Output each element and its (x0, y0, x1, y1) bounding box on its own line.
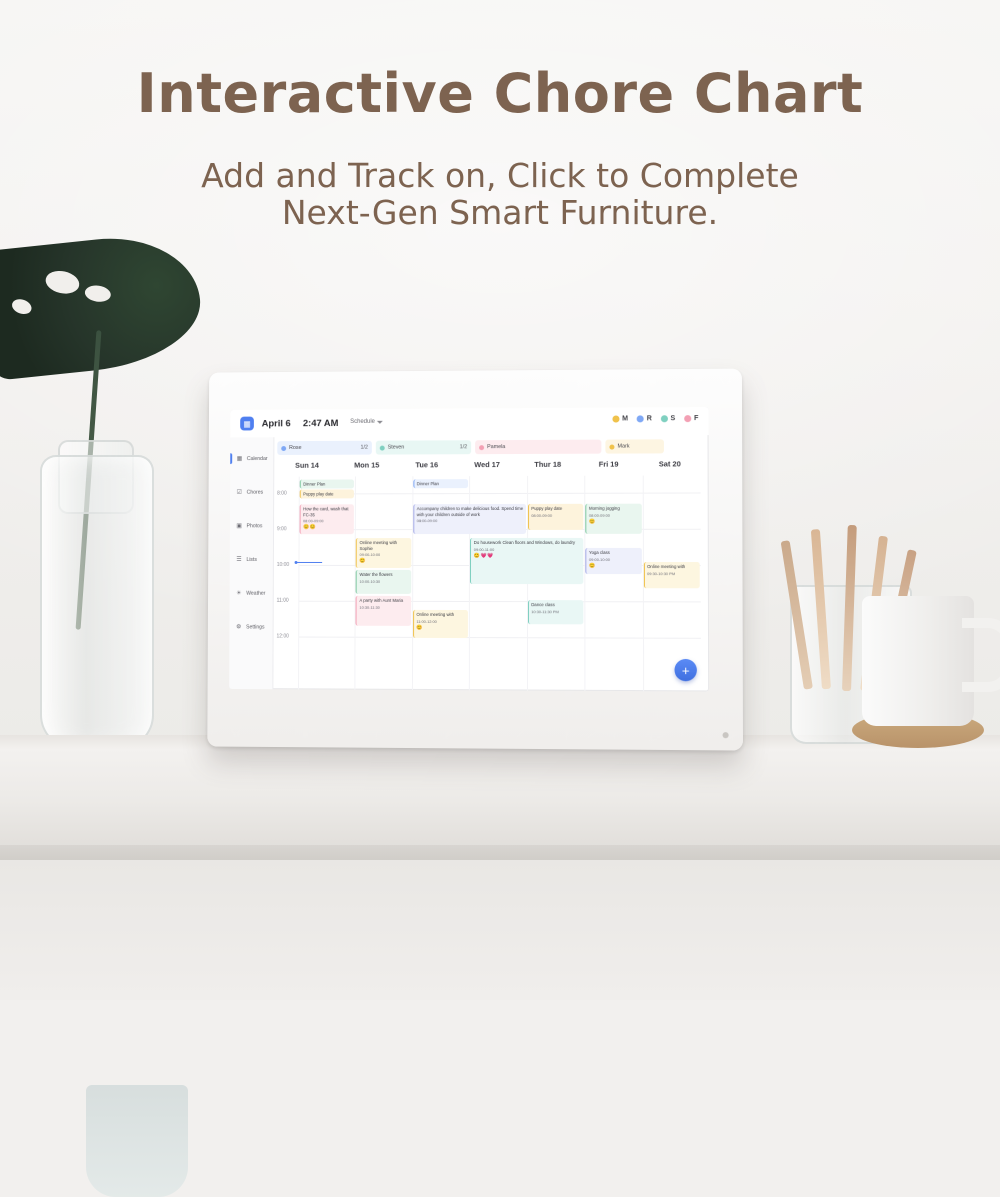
event-title: A party with Aunt Maria (359, 598, 408, 604)
event-emoji: 😊 (416, 624, 465, 631)
sidebar-active-indicator (230, 453, 232, 464)
sidebar-item-label: Calendar (247, 456, 268, 462)
sidebar-item-label: Weather (246, 590, 265, 596)
event-title: Do housework Clean floors and Windows, d… (474, 540, 581, 546)
sidebar-item-photos[interactable]: ▣Photos (235, 518, 272, 533)
calendar-event[interactable]: How the card, wash that FC-3508:00-09:00… (300, 504, 355, 534)
person-chip-name: Mark (617, 444, 629, 450)
sidebar-item-label: Settings (246, 624, 264, 630)
sidebar-item-calendar[interactable]: ▦Calendar (235, 451, 272, 466)
person-color-dot (380, 445, 385, 450)
calendar-event[interactable]: Online meeting with09:30-10:30 PM (643, 562, 699, 588)
person-chip-mark[interactable]: Mark (605, 439, 664, 453)
member-legend-item[interactable]: F (684, 415, 698, 422)
member-initial: F (694, 415, 698, 422)
event-emoji: 😊💗💗 (474, 552, 581, 558)
white-mug (862, 596, 974, 726)
event-time: 10:30-11:30 PM (531, 609, 581, 614)
sidebar-item-label: Chores (247, 489, 263, 495)
calendar-event[interactable]: Online meeting with11:00-12:00😊 (413, 610, 468, 638)
person-color-dot (479, 445, 484, 450)
person-chip-row: Rose1/2Steven1/2PamelaMark (277, 439, 700, 457)
member-legend-item[interactable]: M (613, 415, 628, 422)
event-title: Yoga class (589, 550, 639, 556)
vase-water (86, 1085, 188, 1197)
event-time: 09:00-11:00 (474, 546, 581, 551)
event-time: 10:00-10:30 (360, 578, 409, 583)
day-header[interactable]: Fri 19 (578, 460, 639, 476)
member-legend: MRSF (613, 415, 699, 422)
day-header[interactable]: Wed 17 (457, 460, 517, 476)
event-time: 08:00-09:00 (303, 518, 352, 523)
event-title: Morning jogging (589, 506, 639, 512)
hour-label: 12:00 (277, 633, 289, 639)
device-screen: ▦ April 6 2:47 AM Schedule MRSF ▦Calenda… (229, 407, 709, 692)
event-time: 08:00-09:00 (531, 512, 581, 517)
event-title: Online meeting with (647, 564, 697, 570)
event-time: 09:00-10:00 (360, 552, 409, 557)
current-time: 2:47 AM (303, 418, 339, 429)
day-header[interactable]: Sun 14 (277, 461, 337, 477)
event-emoji: 😊 (360, 558, 409, 564)
person-chip-progress: 1/2 (360, 445, 367, 451)
calendar-icon: ▦ (240, 417, 254, 431)
event-title: Online meeting with (416, 612, 465, 618)
avatar (661, 415, 668, 422)
event-title: Dance class (531, 602, 581, 608)
sidebar-item-weather[interactable]: ☀Weather (234, 586, 271, 601)
person-chip-pamela[interactable]: Pamela (475, 440, 601, 455)
avatar (637, 415, 644, 422)
avatar (684, 415, 691, 422)
calendar-event[interactable]: Puppy play date (300, 489, 355, 498)
avatar (613, 415, 620, 422)
view-selector[interactable]: Schedule (350, 419, 383, 425)
person-chip-name: Steven (388, 445, 405, 451)
lower-background (0, 860, 1000, 1000)
event-emoji: 😊 (589, 563, 639, 569)
hour-label: 11:00 (277, 598, 289, 604)
event-time: 08:00-09:00 (589, 512, 639, 517)
member-initial: M (622, 415, 628, 422)
event-emoji: 😊😊 (303, 524, 352, 530)
person-chip-progress: 1/2 (460, 444, 467, 450)
event-time: 09:30-10:30 PM (647, 571, 697, 576)
shelf-surface (0, 735, 1000, 855)
calendar-event[interactable]: Dinner Plan (413, 479, 468, 488)
event-emoji: 😊 (589, 518, 639, 524)
person-color-dot (609, 444, 614, 449)
day-header[interactable]: Tue 16 (397, 460, 457, 476)
member-legend-item[interactable]: S (661, 415, 675, 422)
event-time: 09:00-10:00 (589, 556, 639, 561)
event-title: Dinner Plan (417, 481, 466, 487)
event-title: Puppy play date (531, 506, 581, 512)
sidebar-item-settings[interactable]: ⚙Settings (234, 619, 271, 634)
sidebar-item-label: Lists (246, 557, 256, 563)
hour-gridline (299, 492, 701, 494)
person-chip-steven[interactable]: Steven1/2 (376, 440, 471, 454)
person-chip-name: Pamela (487, 444, 505, 450)
day-header-row: Sun 14Mon 15Tue 16Wed 17Thur 18Fri 19Sat… (277, 459, 700, 476)
calendar-event[interactable]: Morning jogging08:00-09:00😊 (585, 504, 641, 534)
person-chip-name: Rose (289, 445, 301, 451)
schedule-grid[interactable]: 8:009:0010:0011:0012:00 Dinner PlanPuppy… (276, 475, 701, 691)
hour-axis: 8:009:0010:0011:0012:00 (276, 477, 298, 690)
calendar-event[interactable]: Water the flowers10:00-10:30 (356, 570, 411, 594)
gear-icon: ⚙ (234, 622, 243, 631)
add-event-button[interactable]: + (674, 659, 696, 681)
hour-label: 9:00 (277, 526, 287, 532)
sidebar-item-lists[interactable]: ☰Lists (235, 552, 272, 567)
current-date: April 6 (262, 418, 291, 429)
view-selector-label: Schedule (350, 419, 375, 425)
day-header[interactable]: Mon 15 (337, 460, 397, 476)
member-legend-item[interactable]: R (637, 415, 652, 422)
event-title: Water the flowers (360, 572, 409, 578)
event-time: 10:30-11:30 (359, 604, 408, 609)
glass-vase (40, 455, 154, 749)
event-title: Puppy play date (303, 491, 352, 497)
app-sidebar[interactable]: ▦Calendar☑Chores▣Photos☰Lists☀Weather⚙Se… (229, 437, 274, 689)
person-chip-rose[interactable]: Rose1/2 (277, 441, 372, 455)
hour-label: 8:00 (277, 491, 287, 497)
calendar-icon: ▦ (235, 454, 244, 463)
sidebar-item-label: Photos (247, 523, 263, 529)
day-header[interactable]: Thur 18 (517, 460, 578, 476)
event-title: Dinner Plan (303, 481, 352, 487)
current-time-dot (295, 561, 298, 564)
calendar-event[interactable]: Accompany children to make delicious foo… (413, 504, 526, 534)
hour-gridline (298, 637, 701, 639)
member-initial: R (647, 415, 652, 422)
chevron-down-icon (377, 420, 383, 423)
photo-icon: ▣ (235, 521, 244, 530)
calendar-event[interactable]: Do housework Clean floors and Windows, d… (470, 538, 583, 584)
current-time-indicator (297, 562, 323, 563)
page-subtitle: Add and Track on, Click to Complete Next… (0, 158, 1000, 232)
calendar-event[interactable]: Dinner Plan (300, 479, 355, 488)
app-topbar: ▦ April 6 2:47 AM Schedule MRSF (230, 407, 708, 437)
day-header[interactable]: Sat 20 (639, 459, 700, 475)
subtitle-line-1: Add and Track on, Click to Complete (0, 158, 1000, 195)
calendar-event[interactable]: Puppy play date08:00-09:00 (528, 504, 584, 530)
checklist-icon: ☑ (235, 488, 244, 497)
calendar-event[interactable]: A party with Aunt Maria10:30-11:30 (356, 596, 411, 626)
smart-display-device: ▦ April 6 2:47 AM Schedule MRSF ▦Calenda… (207, 369, 743, 751)
person-color-dot (281, 446, 286, 451)
calendar-app: ▦ April 6 2:47 AM Schedule MRSF ▦Calenda… (229, 407, 709, 692)
mug-handle (962, 618, 1000, 692)
page-title: Interactive Chore Chart (0, 62, 1000, 125)
event-title: Online meeting with Sophie (360, 540, 409, 551)
event-title: Accompany children to make delicious foo… (417, 506, 524, 517)
calendar-event[interactable]: Yoga class09:00-10:00😊 (585, 548, 641, 574)
calendar-event[interactable]: Online meeting with Sophie09:00-10:00😊 (356, 538, 411, 568)
member-initial: S (671, 415, 676, 422)
calendar-event[interactable]: Dance class10:30-11:30 PM (528, 600, 584, 624)
sun-icon: ☀ (234, 589, 243, 598)
event-time: 11:00-12:00 (416, 618, 465, 623)
sidebar-item-chores[interactable]: ☑Chores (235, 485, 272, 500)
list-icon: ☰ (235, 555, 244, 564)
event-title: How the card, wash that FC-35 (303, 506, 352, 517)
subtitle-line-2: Next-Gen Smart Furniture. (0, 195, 1000, 232)
event-time: 08:00-09:00 (417, 518, 524, 523)
hour-label: 10:00 (277, 562, 289, 568)
